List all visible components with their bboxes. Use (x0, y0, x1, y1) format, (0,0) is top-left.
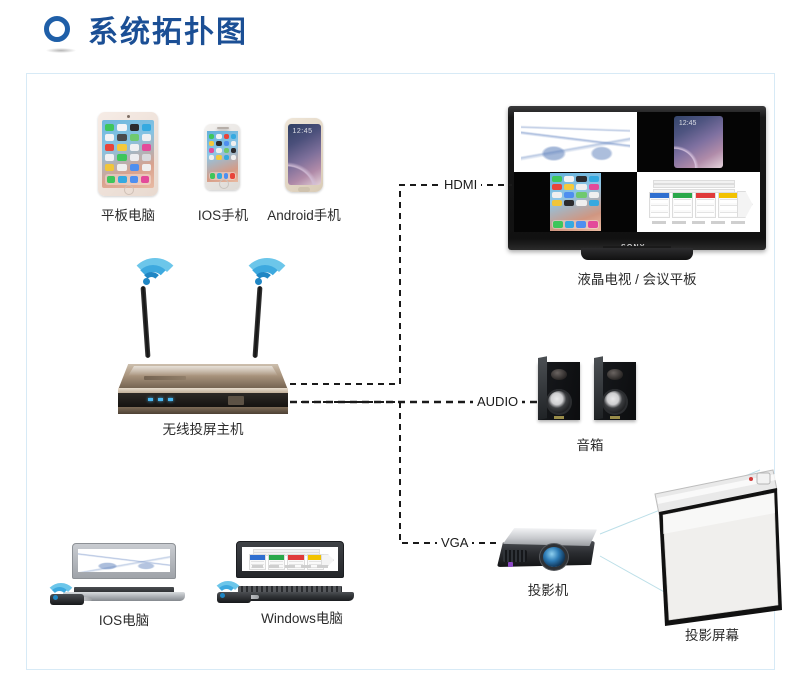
ring-icon (44, 16, 78, 50)
tv-pane-tablet-mirror (514, 172, 637, 232)
label-windows-computer: Windows电脑 (237, 611, 367, 627)
page-header: 系统拓扑图 (0, 0, 800, 73)
tv-pane-chart (637, 172, 760, 232)
device-projection-screen (639, 468, 787, 628)
label-speakers: 音箱 (530, 438, 650, 454)
device-ios-computer (72, 543, 176, 601)
label-projector: 投影机 (488, 583, 608, 599)
label-wireless-host: 无线投屏主机 (143, 422, 263, 438)
wifi-icon-left (128, 258, 164, 288)
connection-label-vga: VGA (437, 535, 472, 550)
wifi-dongle-ios (42, 592, 84, 606)
tv-pane-phone-mirror: 12:45 (637, 112, 760, 172)
connection-label-audio: AUDIO (473, 394, 522, 409)
speaker-left (538, 362, 580, 420)
host-led-indicators (148, 398, 173, 401)
wifi-dongle-windows (209, 590, 251, 604)
host-port (228, 396, 244, 405)
device-ios-phone (205, 124, 240, 190)
tv-screen: 12:45 (514, 112, 760, 232)
device-speakers (538, 362, 642, 424)
device-android-phone: 12:45 (285, 118, 323, 192)
device-projector (495, 528, 601, 576)
label-lcd-tv: 液晶电视 / 会议平板 (577, 272, 697, 288)
device-windows-computer (236, 541, 344, 601)
tv-pane-car-sketch (514, 112, 637, 172)
win-screen (242, 547, 338, 571)
wifi-icon-right (240, 258, 276, 288)
projector-lens (543, 547, 565, 567)
label-android-phone: Android手机 (244, 208, 364, 224)
device-lcd-tv: 12:45 (508, 106, 766, 255)
connection-label-hdmi: HDMI (440, 177, 481, 192)
tablet-icon-grid (105, 124, 151, 171)
label-projection-screen: 投影屏幕 (652, 628, 772, 644)
page-title: 系统拓扑图 (88, 11, 248, 55)
device-tablet (98, 112, 158, 196)
speaker-right (594, 362, 636, 420)
tablet-dock (105, 174, 151, 185)
label-ios-computer: IOS电脑 (64, 613, 184, 629)
mac-screen (78, 549, 170, 572)
device-wireless-host (118, 352, 288, 414)
